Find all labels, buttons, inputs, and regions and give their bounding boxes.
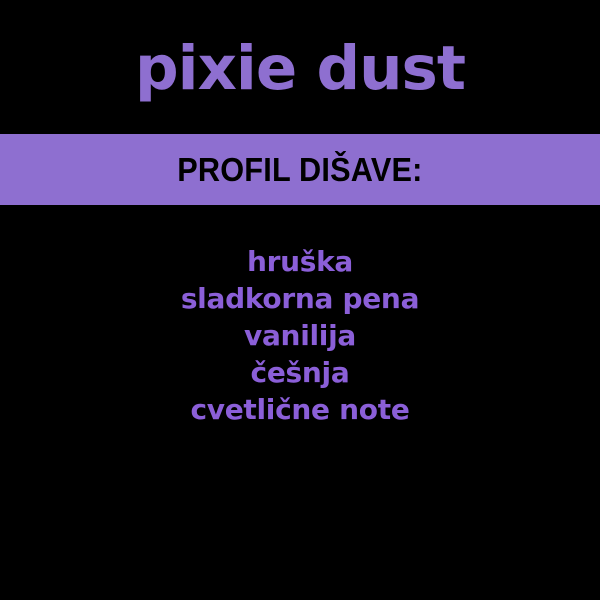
fragrance-card: pixie dust PROFIL DIŠAVE: hruška sladkor… <box>0 0 600 600</box>
list-item: sladkorna pena <box>0 280 600 317</box>
scent-notes-list: hruška sladkorna pena vanilija češnja cv… <box>0 243 600 428</box>
list-item: vanilija <box>0 317 600 354</box>
scent-profile-banner: PROFIL DIŠAVE: <box>0 134 600 205</box>
scent-profile-banner-label: PROFIL DIŠAVE: <box>177 152 422 188</box>
list-item: češnja <box>0 354 600 391</box>
list-item: hruška <box>0 243 600 280</box>
list-item: cvetlične note <box>0 391 600 428</box>
page-title: pixie dust <box>0 36 600 102</box>
